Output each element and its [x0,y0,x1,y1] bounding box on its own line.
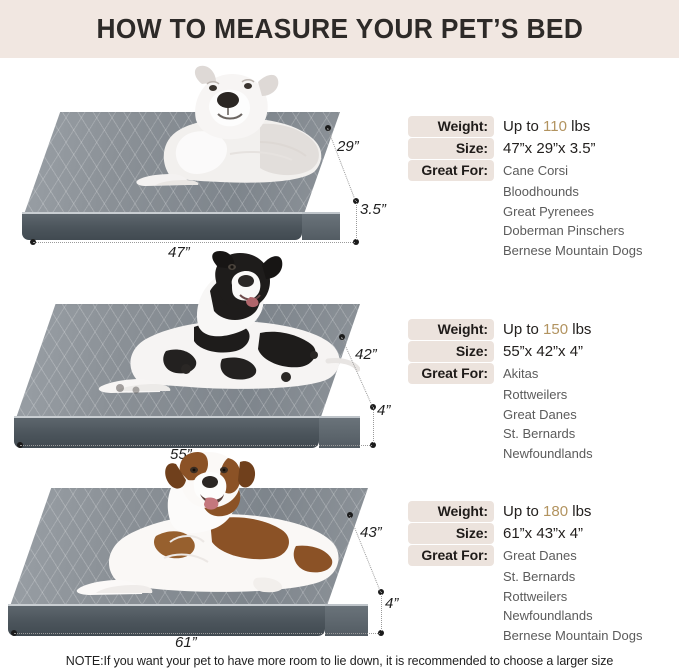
breed-item: Rottweilers [503,587,679,607]
spec-key-weight: Weight: [408,116,494,137]
breed-item: Great Danes [494,548,577,563]
page-title: HOW TO MEASURE YOUR PET’S BED [96,13,583,45]
bed-side-panel-right-small [302,212,340,240]
spec-key-size: Size: [408,138,494,159]
bed-side-panel-medium [14,416,319,448]
bed-mattress-medium [14,304,360,424]
spec-row-size: Size: 55”x 42”x 4” [408,341,679,362]
weight-number: 110 [543,118,567,135]
spec-key-great-for: Great For: [408,545,494,566]
breed-item: St. Bernards [503,424,679,444]
spec-row-great-for: Great For: Cane Corsi [408,160,679,181]
breed-list-large: St. Bernards Rottweilers Newfoundlands B… [503,567,679,645]
weight-suffix: lbs [568,503,591,520]
dim-leader-height-medium [373,407,374,443]
spec-table-medium: Weight: Up to 150 lbs Size: 55”x 42”x 4”… [408,319,679,463]
breed-item: Bernese Mountain Dogs [503,626,679,646]
footer-note: NOTE:If you want your pet to have more r… [0,654,679,668]
spec-row-great-for: Great For: Great Danes [408,545,679,566]
spec-key-weight: Weight: [408,501,494,522]
breed-list-small: Bloodhounds Great Pyrenees Doberman Pins… [503,182,679,260]
dim-leader-width-medium [20,445,372,446]
bed-mattress-small [22,112,340,220]
dim-leader-width-small [33,242,355,243]
weight-prefix: Up to [503,321,543,338]
spec-table-large: Weight: Up to 180 lbs Size: 61”x 43”x 4”… [408,501,679,645]
spec-value-size: 55”x 42”x 4” [494,343,583,360]
spec-value-weight: Up to 110 lbs [494,118,590,135]
weight-suffix: lbs [567,118,590,135]
breed-item: Great Pyrenees [503,202,679,222]
breed-list-medium: Rottweilers Great Danes St. Bernards New… [503,385,679,463]
weight-prefix: Up to [503,118,543,135]
spec-key-great-for: Great For: [408,363,494,384]
dim-label-depth-small: 29” [337,138,359,155]
header-banner: HOW TO MEASURE YOUR PET’S BED [0,0,679,58]
dim-label-depth-medium: 42” [355,346,377,363]
breed-item: Cane Corsi [494,163,568,178]
dim-leader-height-large [381,592,382,631]
weight-suffix: lbs [568,321,591,338]
spec-table-small: Weight: Up to 110 lbs Size: 47”x 29”x 3.… [408,116,679,260]
dim-label-height-medium: 4” [377,402,390,419]
bed-panel-large: 43” 4” 61” Weight: Up to 180 lbs Size: 6… [0,456,679,648]
bed-side-panel-large [8,604,325,636]
spec-value-weight: Up to 180 lbs [494,503,591,520]
bed-panel-medium: 42” 4” 55” Weight: Up to 150 lbs Size: 5… [0,256,679,456]
spec-key-weight: Weight: [408,319,494,340]
spec-value-weight: Up to 150 lbs [494,321,591,338]
breed-item: Great Danes [503,405,679,425]
spec-row-size: Size: 61”x 43”x 4” [408,523,679,544]
spec-row-weight: Weight: Up to 110 lbs [408,116,679,137]
bed-quilted-top [8,488,368,612]
bed-quilted-top [22,112,340,220]
bed-side-panel-right-large [325,604,368,636]
dim-label-height-large: 4” [385,595,398,612]
weight-number: 180 [543,503,568,520]
bed-illustration-large: 43” 4” 61” [0,456,400,648]
spec-row-great-for: Great For: Akitas [408,363,679,384]
dim-label-height-small: 3.5” [360,201,386,218]
dim-label-depth-large: 43” [360,524,382,541]
dim-leader-height-small [356,201,357,240]
bed-side-panel-right-medium [319,416,360,448]
bed-illustration-medium: 42” 4” 55” [0,256,400,456]
dim-label-width-large: 61” [175,634,197,651]
bed-illustration-small: 29” 3.5” 47” [0,58,400,256]
breed-item: Newfoundlands [503,606,679,626]
bed-panel-small: 29” 3.5” 47” Weight: Up to 110 lbs Size:… [0,58,679,256]
spec-row-size: Size: 47”x 29”x 3.5” [408,138,679,159]
breed-item: Doberman Pinschers [503,221,679,241]
spec-row-weight: Weight: Up to 180 lbs [408,501,679,522]
breed-item: Bloodhounds [503,182,679,202]
spec-value-size: 47”x 29”x 3.5” [494,140,596,157]
spec-value-size: 61”x 43”x 4” [494,525,583,542]
breed-item: Akitas [494,366,538,381]
breed-item: Rottweilers [503,385,679,405]
breed-item: St. Bernards [503,567,679,587]
spec-key-size: Size: [408,341,494,362]
bed-quilted-top [14,304,360,424]
bed-mattress-large [8,488,368,612]
spec-key-size: Size: [408,523,494,544]
bed-side-panel-small [22,212,302,240]
dim-leader-width-large [14,633,380,634]
weight-prefix: Up to [503,503,543,520]
spec-row-weight: Weight: Up to 150 lbs [408,319,679,340]
weight-number: 150 [543,321,568,338]
spec-key-great-for: Great For: [408,160,494,181]
